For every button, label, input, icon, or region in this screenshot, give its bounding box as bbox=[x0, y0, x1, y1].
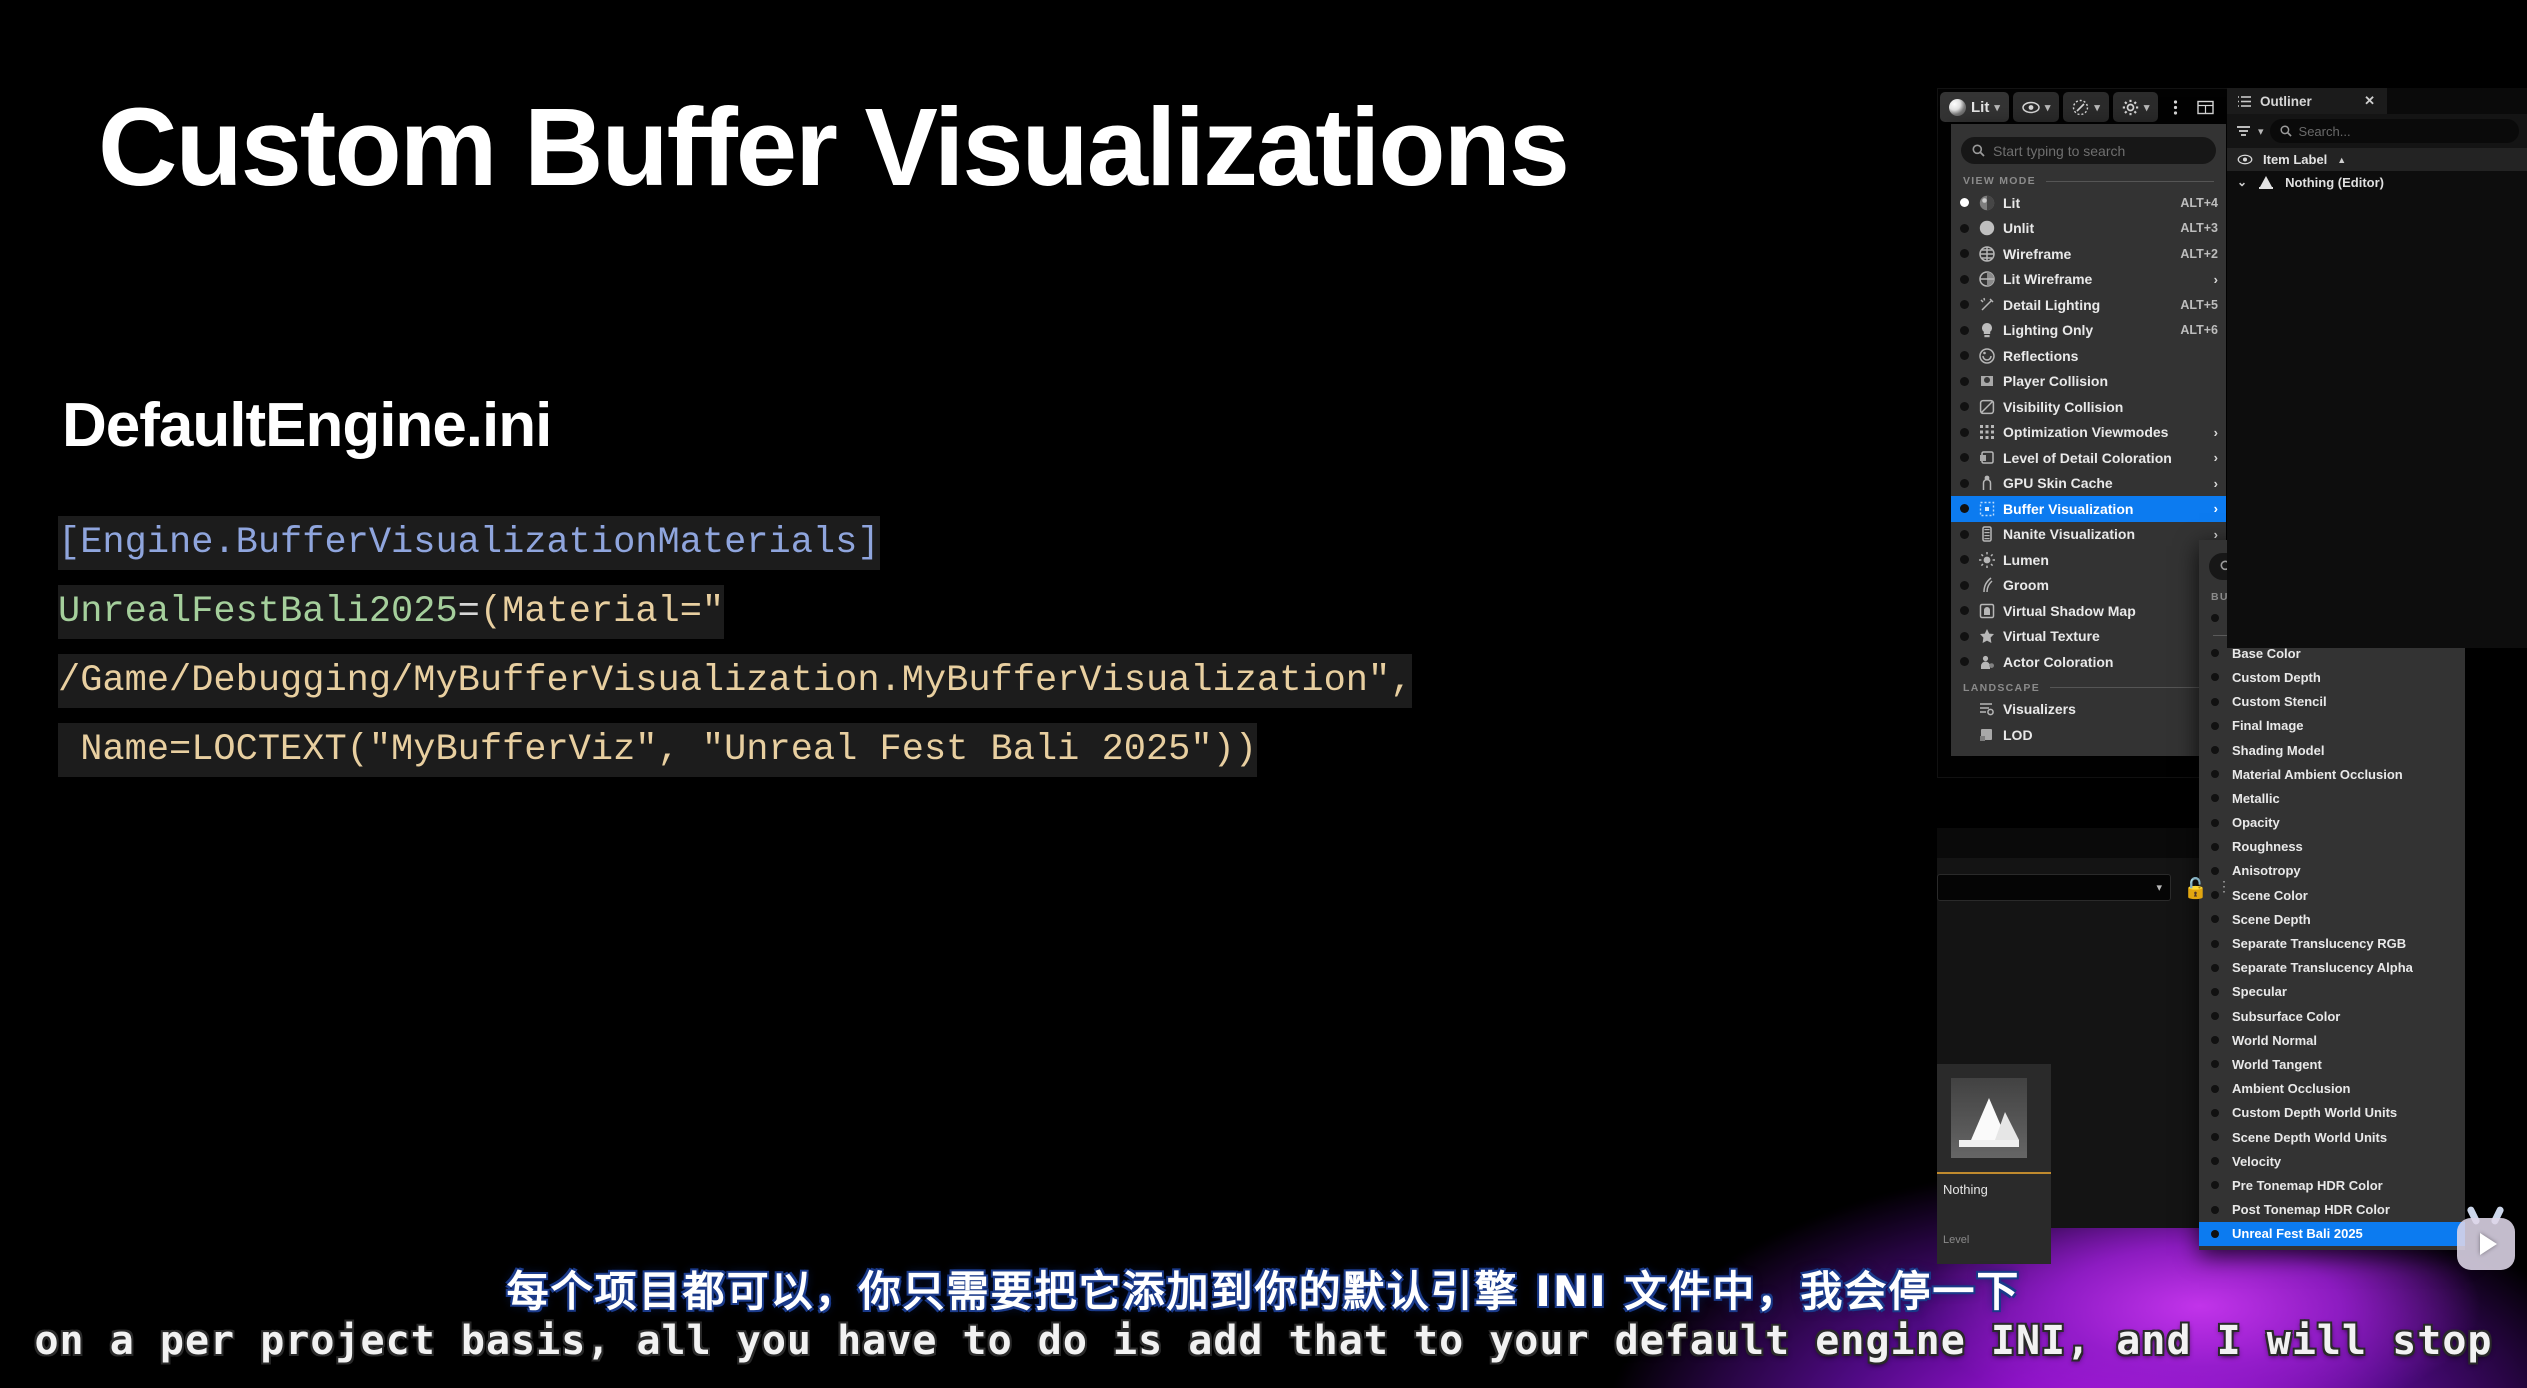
lumen-sun-icon-wrap bbox=[1978, 551, 1996, 569]
view-mode-item-label: GPU Skin Cache bbox=[2003, 475, 2204, 491]
radio-icon bbox=[2211, 1012, 2219, 1020]
view-mode-item-label: Lit bbox=[2003, 195, 2170, 211]
subtitle-english: on a per project basis, all you have to … bbox=[0, 1318, 2527, 1364]
radio-icon bbox=[1960, 581, 1969, 590]
lod-coloration-icon bbox=[1978, 449, 1996, 467]
code-key: UnrealFestBali2025 bbox=[58, 585, 458, 639]
level-thumbnail-icon bbox=[1951, 1078, 2027, 1158]
view-mode-item-gpu-skin-cache[interactable]: GPU Skin Cache› bbox=[1951, 471, 2226, 497]
radio-icon bbox=[1960, 224, 1969, 233]
buffer-viz-item-label: Final Image bbox=[2232, 718, 2457, 733]
view-mode-item-virtual-texture[interactable]: Virtual Texture› bbox=[1951, 624, 2226, 650]
buffer-viz-item-label: Ambient Occlusion bbox=[2232, 1081, 2457, 1096]
outliner-search-input[interactable]: Search... bbox=[2270, 119, 2519, 143]
radio-icon bbox=[2211, 915, 2219, 923]
view-mode-item-label: Virtual Shadow Map bbox=[2003, 603, 2204, 619]
kebab-menu-icon[interactable]: ⋮ bbox=[2217, 878, 2231, 895]
buffer-viz-item-label: World Normal bbox=[2232, 1033, 2457, 1048]
view-mode-item-shortcut: ALT+2 bbox=[2180, 247, 2218, 261]
buffer-viz-item-scene-color[interactable]: Scene Color bbox=[2199, 883, 2465, 907]
code-line-2: UnrealFestBali2025=(Material=" bbox=[58, 579, 1412, 646]
view-mode-item-list: LitALT+4UnlitALT+3WireframeALT+2Lit Wire… bbox=[1951, 190, 2226, 675]
asset-name-label: Nothing bbox=[1943, 1182, 1988, 1197]
chevron-right-icon: › bbox=[2214, 501, 2218, 516]
speedometer-icon bbox=[2072, 99, 2089, 116]
buffer-viz-item-label: Scene Depth World Units bbox=[2232, 1130, 2457, 1145]
play-triangle-icon bbox=[2480, 1233, 2497, 1255]
radio-icon bbox=[1960, 377, 1969, 386]
code-operator: = bbox=[458, 585, 480, 639]
chevron-down-icon: ▾ bbox=[2156, 881, 2162, 894]
layout-button[interactable] bbox=[2192, 92, 2218, 122]
radio-icon bbox=[2211, 1036, 2219, 1044]
radio-icon bbox=[2211, 698, 2219, 706]
landscape-item-label: Visualizers bbox=[2003, 701, 2204, 717]
reflections-icon-wrap bbox=[1978, 347, 1996, 365]
unlit-orb-icon-wrap bbox=[1978, 219, 1996, 237]
section-divider bbox=[2050, 687, 2214, 688]
radio-icon bbox=[1960, 326, 1969, 335]
section-divider bbox=[2046, 181, 2214, 182]
landscape-item-label: LOD bbox=[2003, 727, 2204, 743]
chevron-right-icon: › bbox=[2214, 425, 2218, 440]
radio-icon bbox=[1960, 530, 1969, 539]
chevron-down-icon: ▾ bbox=[1994, 101, 2000, 114]
outliner-row-label: Nothing (Editor) bbox=[2285, 175, 2384, 190]
code-line-4: Name=LOCTEXT("MyBufferViz", "Unreal Fest… bbox=[58, 717, 1412, 784]
wireframe-orb-icon bbox=[1978, 245, 1996, 263]
buffer-viz-item-opacity[interactable]: Opacity bbox=[2199, 811, 2465, 835]
detail-lighting-icon bbox=[1978, 296, 1996, 314]
buffer-viz-item-label: Pre Tonemap HDR Color bbox=[2232, 1178, 2457, 1193]
chevron-down-icon: ▾ bbox=[2094, 101, 2100, 114]
radio-icon bbox=[1960, 428, 1969, 437]
buffer-viz-item-label: Anisotropy bbox=[2232, 863, 2457, 878]
expand-collapse-icon[interactable]: ⌄ bbox=[2237, 175, 2247, 189]
lit-wireframe-icon-wrap bbox=[1978, 270, 1996, 288]
view-mode-item-nanite-visualization[interactable]: Nanite Visualization› bbox=[1951, 522, 2226, 548]
buffer-viz-item-post-tonemap-hdr-color[interactable]: Post Tonemap HDR Color bbox=[2199, 1198, 2465, 1222]
view-mode-item-buffer-visualization[interactable]: Buffer Visualization› bbox=[1951, 496, 2226, 522]
radio-icon bbox=[2211, 1157, 2219, 1165]
visualizers-icon-wrap bbox=[1978, 700, 1996, 718]
buffer-viz-item-label: Material Ambient Occlusion bbox=[2232, 767, 2457, 782]
outliner-panel: Outliner ✕ ▾ Search... bbox=[2227, 88, 2527, 648]
radio-icon bbox=[2211, 1230, 2219, 1238]
buffer-viz-item-label: Unreal Fest Bali 2025 bbox=[2232, 1226, 2457, 1241]
content-browser-path-dropdown[interactable]: ▾ bbox=[1937, 874, 2171, 901]
actor-coloration-icon-wrap bbox=[1978, 653, 1996, 671]
radio-placeholder bbox=[1960, 730, 1969, 739]
filter-icon[interactable] bbox=[2235, 124, 2252, 138]
buffer-viz-item-label: World Tangent bbox=[2232, 1057, 2457, 1072]
slide-canvas: Custom Buffer Visualizations DefaultEngi… bbox=[0, 0, 2527, 1388]
code-line-3: /Game/Debugging/MyBufferVisualization.My… bbox=[58, 648, 1412, 715]
chevron-right-icon: › bbox=[2214, 476, 2218, 491]
view-mode-item-label: Buffer Visualization bbox=[2003, 501, 2204, 517]
radio-icon bbox=[2211, 867, 2219, 875]
show-flags-button[interactable]: ▾ bbox=[2013, 92, 2060, 122]
buffer-viz-item-label: Post Tonemap HDR Color bbox=[2232, 1202, 2457, 1217]
outliner-row-list: ⌄Nothing (Editor) bbox=[2227, 171, 2527, 193]
virtual-shadow-map-icon-wrap bbox=[1978, 602, 1996, 620]
virtual-texture-icon-wrap bbox=[1978, 627, 1996, 645]
view-mode-item-player-collision[interactable]: Player Collision bbox=[1951, 369, 2226, 395]
tab-outliner[interactable]: Outliner ✕ bbox=[2227, 88, 2387, 114]
visibility-collision-icon-wrap bbox=[1978, 398, 1996, 416]
view-mode-item-shortcut: ALT+5 bbox=[2180, 298, 2218, 312]
view-mode-item-groom[interactable]: Groom› bbox=[1951, 573, 2226, 599]
radio-icon bbox=[2211, 1085, 2219, 1093]
view-mode-item-wireframe[interactable]: WireframeALT+2 bbox=[1951, 241, 2226, 267]
outliner-tab-bar: Outliner ✕ bbox=[2227, 88, 2527, 114]
lit-orb-icon bbox=[1978, 194, 1996, 212]
buffer-viz-item-label: Subsurface Color bbox=[2232, 1009, 2457, 1024]
landscape-item-visualizers[interactable]: Visualizers› bbox=[1951, 697, 2226, 723]
radio-icon bbox=[1960, 606, 1969, 615]
groom-hair-icon bbox=[1978, 576, 1996, 594]
eye-icon bbox=[2237, 154, 2253, 165]
visibility-collision-icon bbox=[1978, 398, 1996, 416]
buffer-viz-item-scene-depth[interactable]: Scene Depth bbox=[2199, 907, 2465, 931]
chevron-down-icon[interactable]: ▾ bbox=[2258, 125, 2264, 138]
buffer-viz-item-separate-translucency-alpha[interactable]: Separate Translucency Alpha bbox=[2199, 956, 2465, 980]
optimization-grid-icon-wrap bbox=[1978, 423, 1996, 441]
nanite-icon bbox=[1978, 525, 1996, 543]
more-options-button[interactable] bbox=[2162, 92, 2188, 122]
landscape-item-list: Visualizers›LOD› bbox=[1951, 697, 2226, 748]
search-icon bbox=[2280, 125, 2292, 137]
unlit-orb-icon bbox=[1978, 219, 1996, 237]
view-mode-item-detail-lighting[interactable]: Detail LightingALT+5 bbox=[1951, 292, 2226, 318]
view-mode-item-label: Detail Lighting bbox=[2003, 297, 2170, 313]
code-line-1: [Engine.BufferVisualizationMaterials] bbox=[58, 510, 1412, 577]
outliner-column-header[interactable]: Item Label ▲ bbox=[2227, 148, 2527, 171]
code-block: [Engine.BufferVisualizationMaterials] Un… bbox=[58, 510, 1412, 786]
asset-type-color-bar bbox=[1937, 1172, 2051, 1174]
radio-icon bbox=[1960, 300, 1969, 309]
lit-orb-icon bbox=[1949, 99, 1966, 116]
lumen-sun-icon bbox=[1978, 551, 1996, 569]
radio-icon bbox=[1960, 504, 1969, 513]
view-mode-item-label: Unlit bbox=[2003, 220, 2170, 236]
buffer-viz-item-custom-depth[interactable]: Custom Depth bbox=[2199, 665, 2465, 689]
lit-orb-icon-wrap bbox=[1978, 194, 1996, 212]
visualizers-icon bbox=[1978, 700, 1996, 718]
buffer-viz-item-label: Specular bbox=[2232, 984, 2457, 999]
view-mode-item-label: Reflections bbox=[2003, 348, 2218, 364]
view-mode-item-label: Groom bbox=[2003, 577, 2204, 593]
buffer-viz-item-anisotropy[interactable]: Anisotropy bbox=[2199, 859, 2465, 883]
radio-icon bbox=[2211, 722, 2219, 730]
buffer-viz-item-shading-model[interactable]: Shading Model bbox=[2199, 738, 2465, 762]
player-collision-icon bbox=[1978, 372, 1996, 390]
chevron-right-icon: › bbox=[2214, 450, 2218, 465]
radio-icon bbox=[2211, 649, 2219, 657]
chevron-right-icon: › bbox=[2214, 272, 2218, 287]
bulb-icon-wrap bbox=[1978, 321, 1996, 339]
view-mode-item-label: Lumen bbox=[2003, 552, 2204, 568]
view-mode-item-shortcut: ALT+6 bbox=[2180, 323, 2218, 337]
outliner-search-placeholder: Search... bbox=[2299, 124, 2351, 139]
radio-icon bbox=[2211, 794, 2219, 802]
radio-icon bbox=[2211, 843, 2219, 851]
view-mode-button[interactable]: Lit ▾ bbox=[1940, 92, 2009, 122]
outliner-tab-label: Outliner bbox=[2260, 94, 2312, 109]
actor-coloration-icon bbox=[1978, 653, 1996, 671]
buffer-viz-item-final-image[interactable]: Final Image bbox=[2199, 714, 2465, 738]
outliner-column-label: Item Label bbox=[2263, 152, 2327, 167]
code-path: /Game/Debugging/MyBufferVisualization.My… bbox=[58, 654, 1412, 708]
performance-button[interactable]: ▾ bbox=[2063, 92, 2109, 122]
code-loctext: Name=LOCTEXT("MyBufferViz", "Unreal Fest… bbox=[58, 723, 1257, 777]
buffer-viz-item-label: Metallic bbox=[2232, 791, 2457, 806]
buffer-viz-item-world-normal[interactable]: World Normal bbox=[2199, 1028, 2465, 1052]
view-mode-item-label: Wireframe bbox=[2003, 246, 2170, 262]
eye-icon bbox=[2022, 101, 2040, 114]
buffer-visualization-icon bbox=[1978, 500, 1996, 518]
outliner-row[interactable]: ⌄Nothing (Editor) bbox=[2227, 171, 2527, 193]
radio-icon bbox=[1960, 402, 1969, 411]
unreal-editor-capture: Lit ▾ ▾ ▾ bbox=[1937, 88, 2527, 1228]
landscape-item-lod[interactable]: LOD› bbox=[1951, 722, 2226, 748]
buffer-viz-item-roughness[interactable]: Roughness bbox=[2199, 835, 2465, 859]
radio-icon bbox=[2211, 614, 2219, 622]
view-mode-item-label: Lit Wireframe bbox=[2003, 271, 2204, 287]
radio-icon bbox=[1960, 249, 1969, 258]
view-mode-item-label: Level of Detail Coloration bbox=[2003, 450, 2204, 466]
view-mode-search-input[interactable]: Start typing to search bbox=[1961, 137, 2216, 164]
outliner-search-row: ▾ Search... bbox=[2227, 114, 2527, 148]
detail-lighting-icon-wrap bbox=[1978, 296, 1996, 314]
buffer-viz-item-separate-translucency-rgb[interactable]: Separate Translucency RGB bbox=[2199, 931, 2465, 955]
buffer-viz-item-label: Custom Depth bbox=[2232, 670, 2457, 685]
player-collision-icon-wrap bbox=[1978, 372, 1996, 390]
buffer-viz-item-material-ambient-occlusion[interactable]: Material Ambient Occlusion bbox=[2199, 762, 2465, 786]
buffer-viz-item-custom-depth-world-units[interactable]: Custom Depth World Units bbox=[2199, 1101, 2465, 1125]
view-mode-section-label: VIEW MODE bbox=[1963, 175, 2036, 187]
asset-card[interactable]: Nothing Level bbox=[1937, 1064, 2051, 1264]
outliner-icon bbox=[2237, 95, 2252, 108]
radio-icon bbox=[1960, 453, 1969, 462]
buffer-viz-item-label: Scene Color bbox=[2232, 888, 2457, 903]
buffer-viz-item-label: Velocity bbox=[2232, 1154, 2457, 1169]
reflections-icon bbox=[1978, 347, 1996, 365]
radio-icon bbox=[2211, 746, 2219, 754]
level-icon-wrap bbox=[2257, 173, 2275, 191]
lod-icon-wrap bbox=[1978, 726, 1996, 744]
lod-icon bbox=[1978, 726, 1996, 744]
subtitle-chinese: 每个项目都可以，你只需要把它添加到你的默认引擎 INI 文件中，我会停一下 bbox=[0, 1258, 2527, 1319]
view-mode-item-label: Visibility Collision bbox=[2003, 399, 2218, 415]
buffer-viz-item-label: Custom Depth World Units bbox=[2232, 1105, 2457, 1120]
view-mode-item-optimization-viewmodes[interactable]: Optimization Viewmodes› bbox=[1951, 420, 2226, 446]
radio-icon bbox=[2211, 964, 2219, 972]
lit-wireframe-icon bbox=[1978, 270, 1996, 288]
gear-icon bbox=[2122, 99, 2139, 116]
asset-thumbnail bbox=[1951, 1078, 2027, 1158]
file-name-heading: DefaultEngine.ini bbox=[62, 390, 551, 461]
grid-layout-icon bbox=[2197, 100, 2214, 115]
virtual-texture-icon bbox=[1978, 627, 1996, 645]
buffer-viz-item-label: Custom Stencil bbox=[2232, 694, 2457, 709]
lod-coloration-icon-wrap bbox=[1978, 449, 1996, 467]
radio-icon bbox=[2211, 1133, 2219, 1141]
buffer-viz-item-velocity[interactable]: Velocity bbox=[2199, 1149, 2465, 1173]
radio-icon bbox=[2211, 1060, 2219, 1068]
buffer-viz-item-label: Base Color bbox=[2232, 646, 2457, 661]
view-mode-label: Lit bbox=[1971, 99, 1989, 116]
view-mode-item-label: Player Collision bbox=[2003, 373, 2218, 389]
close-icon[interactable]: ✕ bbox=[2364, 93, 2375, 109]
buffer-viz-item-label: Opacity bbox=[2232, 815, 2457, 830]
asset-type-label: Level bbox=[1943, 1234, 1969, 1246]
buffer-viz-item-world-tangent[interactable]: World Tangent bbox=[2199, 1052, 2465, 1076]
buffer-viz-item-unreal-fest-bali-2025[interactable]: Unreal Fest Bali 2025 bbox=[2199, 1222, 2465, 1246]
chevron-down-icon: ▾ bbox=[2144, 101, 2150, 114]
video-player-logo bbox=[2457, 1218, 2515, 1270]
buffer-visualization-icon-wrap bbox=[1978, 500, 1996, 518]
buffer-viz-item-subsurface-color[interactable]: Subsurface Color bbox=[2199, 1004, 2465, 1028]
skin-cache-icon-wrap bbox=[1978, 474, 1996, 492]
view-mode-item-level-of-detail-coloration[interactable]: Level of Detail Coloration› bbox=[1951, 445, 2226, 471]
level-icon bbox=[2257, 173, 2275, 191]
view-mode-item-label: Lighting Only bbox=[2003, 322, 2170, 338]
view-mode-item-lumen[interactable]: Lumen› bbox=[1951, 547, 2226, 573]
nanite-icon-wrap bbox=[1978, 525, 1996, 543]
buffer-viz-item-list: Base ColorCustom DepthCustom StencilFina… bbox=[2199, 641, 2465, 1246]
buffer-viz-item-specular[interactable]: Specular bbox=[2199, 980, 2465, 1004]
view-mode-item-label: Virtual Texture bbox=[2003, 628, 2204, 644]
wireframe-orb-icon-wrap bbox=[1978, 245, 1996, 263]
sort-ascending-icon: ▲ bbox=[2337, 155, 2346, 165]
buffer-viz-item-ambient-occlusion[interactable]: Ambient Occlusion bbox=[2199, 1077, 2465, 1101]
view-mode-item-shortcut: ALT+4 bbox=[2180, 196, 2218, 210]
radio-icon bbox=[2211, 819, 2219, 827]
view-mode-item-lighting-only[interactable]: Lighting OnlyALT+6 bbox=[1951, 318, 2226, 344]
radio-icon bbox=[2211, 770, 2219, 778]
view-mode-section-header: VIEW MODE bbox=[1951, 168, 2226, 190]
lock-icon[interactable]: 🔓 bbox=[2183, 876, 2208, 901]
landscape-section-header: LANDSCAPE bbox=[1951, 675, 2226, 697]
buffer-viz-item-custom-stencil[interactable]: Custom Stencil bbox=[2199, 690, 2465, 714]
buffer-viz-item-label: Roughness bbox=[2232, 839, 2457, 854]
bulb-icon bbox=[1978, 321, 1996, 339]
view-mode-menu: Start typing to search VIEW MODE LitALT+… bbox=[1951, 124, 2226, 756]
view-mode-item-actor-coloration[interactable]: Actor Coloration› bbox=[1951, 649, 2226, 675]
view-mode-item-virtual-shadow-map[interactable]: Virtual Shadow Map› bbox=[1951, 598, 2226, 624]
radio-icon bbox=[2211, 1206, 2219, 1214]
view-mode-item-visibility-collision[interactable]: Visibility Collision bbox=[1951, 394, 2226, 420]
radio-icon bbox=[1960, 479, 1969, 488]
radio-icon bbox=[1960, 351, 1969, 360]
code-section-header: [Engine.BufferVisualizationMaterials] bbox=[58, 516, 880, 570]
buffer-viz-item-label: Scene Depth bbox=[2232, 912, 2457, 927]
radio-icon bbox=[2211, 988, 2219, 996]
view-mode-item-label: Nanite Visualization bbox=[2003, 526, 2204, 542]
radio-icon bbox=[1960, 632, 1969, 641]
view-mode-item-label: Actor Coloration bbox=[2003, 654, 2204, 670]
radio-icon bbox=[1960, 198, 1969, 207]
code-value-start: (Material=" bbox=[480, 585, 724, 639]
radio-icon bbox=[2211, 1109, 2219, 1117]
buffer-viz-item-metallic[interactable]: Metallic bbox=[2199, 786, 2465, 810]
page-title: Custom Buffer Visualizations bbox=[98, 84, 1568, 211]
view-mode-item-lit-wireframe[interactable]: Lit Wireframe› bbox=[1951, 267, 2226, 293]
skin-cache-icon bbox=[1978, 474, 1996, 492]
settings-button[interactable]: ▾ bbox=[2113, 92, 2159, 122]
landscape-section-label: LANDSCAPE bbox=[1963, 682, 2040, 694]
view-mode-item-lit[interactable]: LitALT+4 bbox=[1951, 190, 2226, 216]
view-mode-item-unlit[interactable]: UnlitALT+3 bbox=[1951, 216, 2226, 242]
search-icon bbox=[1972, 144, 1985, 157]
optimization-grid-icon bbox=[1978, 423, 1996, 441]
radio-icon bbox=[1960, 555, 1969, 564]
buffer-viz-item-label: Separate Translucency Alpha bbox=[2232, 960, 2457, 975]
chevron-down-icon: ▾ bbox=[2045, 101, 2051, 114]
groom-hair-icon-wrap bbox=[1978, 576, 1996, 594]
viewport-toolbar: Lit ▾ ▾ ▾ bbox=[1940, 88, 2218, 126]
view-mode-item-shortcut: ALT+3 bbox=[2180, 221, 2218, 235]
buffer-viz-item-label: Separate Translucency RGB bbox=[2232, 936, 2457, 951]
view-mode-search-placeholder: Start typing to search bbox=[1993, 143, 2125, 159]
buffer-viz-item-pre-tonemap-hdr-color[interactable]: Pre Tonemap HDR Color bbox=[2199, 1173, 2465, 1197]
virtual-shadow-map-icon bbox=[1978, 602, 1996, 620]
radio-icon bbox=[2211, 1181, 2219, 1189]
buffer-viz-item-scene-depth-world-units[interactable]: Scene Depth World Units bbox=[2199, 1125, 2465, 1149]
radio-icon bbox=[1960, 275, 1969, 284]
radio-icon bbox=[1960, 657, 1969, 666]
radio-icon bbox=[2211, 940, 2219, 948]
kebab-menu-icon bbox=[2173, 99, 2178, 116]
view-mode-item-label: Optimization Viewmodes bbox=[2003, 424, 2204, 440]
view-mode-item-reflections[interactable]: Reflections bbox=[1951, 343, 2226, 369]
radio-placeholder bbox=[1960, 705, 1969, 714]
buffer-viz-item-label: Shading Model bbox=[2232, 743, 2457, 758]
radio-icon bbox=[2211, 673, 2219, 681]
